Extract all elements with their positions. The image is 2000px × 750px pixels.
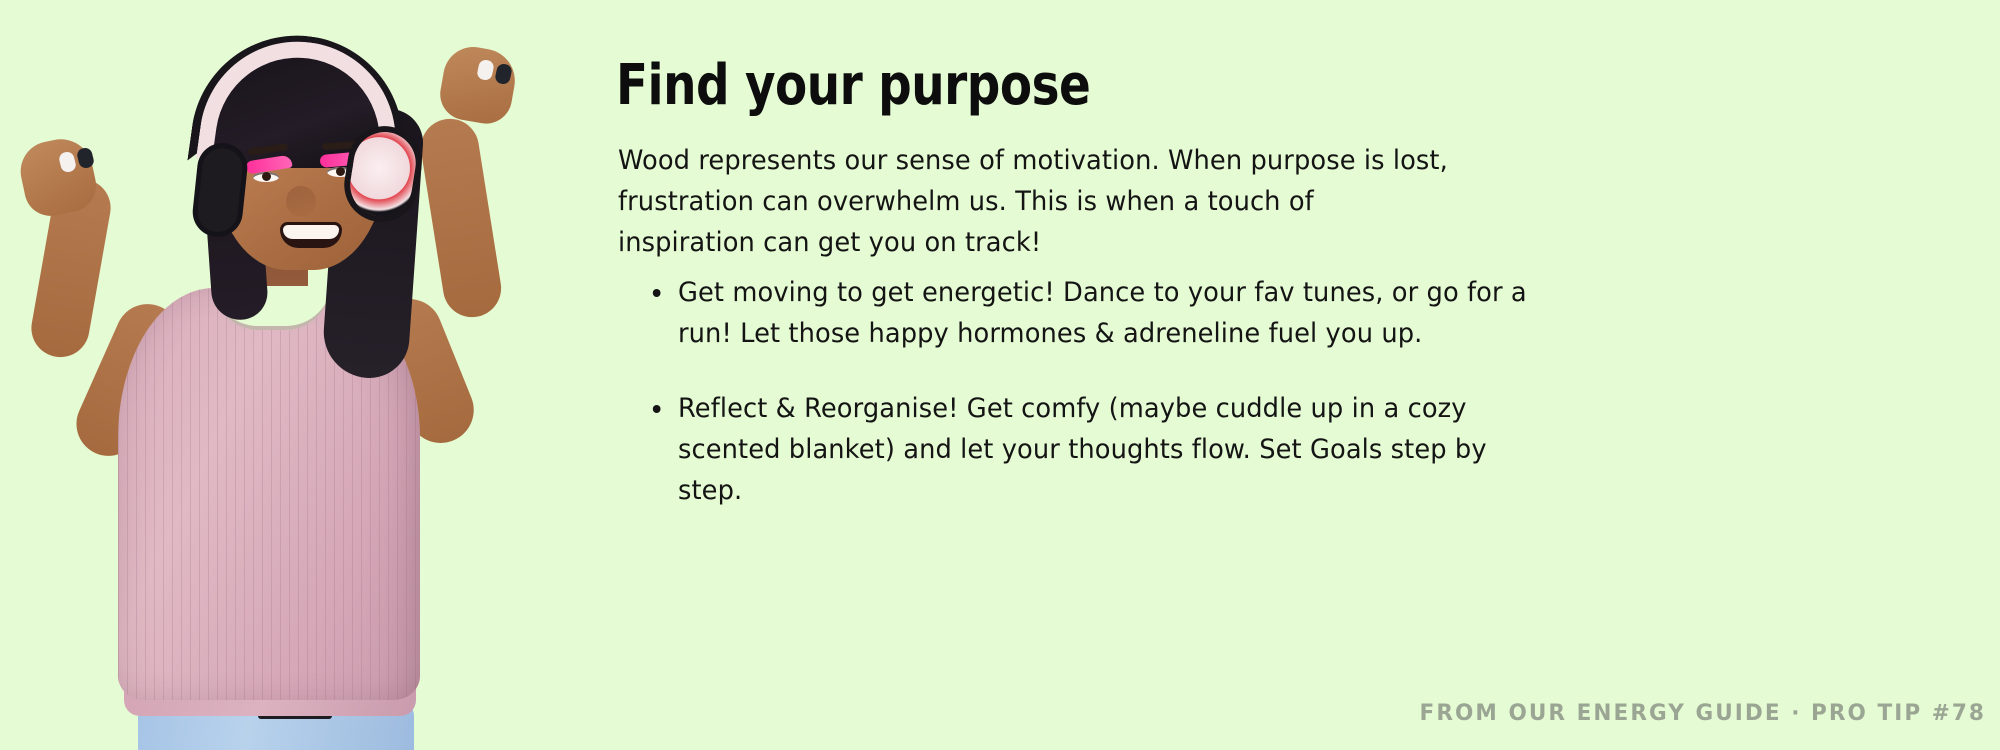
right-fist — [436, 42, 520, 127]
hero-photo — [0, 0, 620, 750]
smiling-mouth — [280, 222, 342, 248]
tip-card-slide: Find your purpose Wood represents our se… — [0, 0, 2000, 750]
intro-paragraph: Wood represents our sense of motivation.… — [618, 140, 1452, 263]
left-pupil — [262, 172, 271, 181]
right-forearm — [417, 115, 506, 322]
nose — [286, 186, 316, 216]
source-footer: FROM OUR ENERGY GUIDE · PRO TIP #78 — [1420, 700, 1986, 728]
list-item: Reflect & Reorganise! Get comfy (maybe c… — [678, 388, 1532, 511]
list-item: Get moving to get energetic! Dance to yo… — [678, 272, 1532, 354]
dancing-woman-illustration — [0, 0, 620, 750]
page-title: Find your purpose — [616, 54, 1090, 118]
teeth — [283, 225, 339, 239]
tips-list: Get moving to get energetic! Dance to yo… — [640, 272, 1558, 511]
text-column: Find your purpose Wood represents our se… — [616, 0, 2000, 750]
